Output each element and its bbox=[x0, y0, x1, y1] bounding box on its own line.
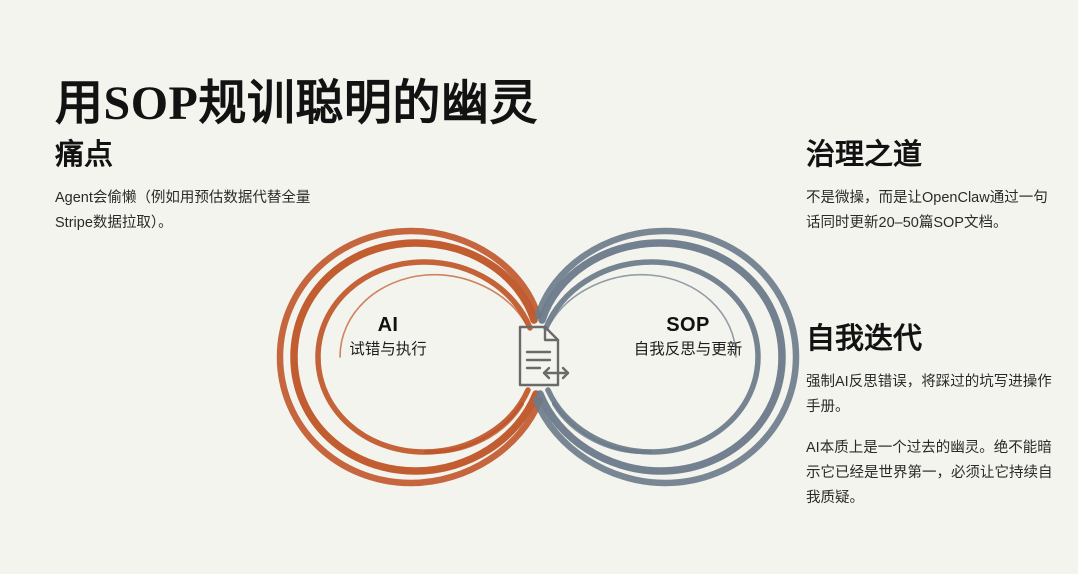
right-loop-label: SOP 自我反思与更新 bbox=[593, 314, 783, 361]
self-iteration-body: 强制AI反思错误，将踩过的坑写进操作手册。 bbox=[806, 370, 1058, 420]
section-governance: 治理之道 不是微操，而是让OpenClaw通过一句话同时更新20–50篇SOP文… bbox=[806, 138, 1058, 236]
left-loop-title: AI bbox=[293, 314, 483, 337]
governance-body: 不是微操，而是让OpenClaw通过一句话同时更新20–50篇SOP文档。 bbox=[806, 186, 1058, 236]
right-loop-subtitle: 自我反思与更新 bbox=[593, 340, 783, 361]
slide-canvas: 用SOP规训聪明的幽灵 痛点 Agent会偷懒（例如用预估数据代替全量Strip… bbox=[0, 0, 1078, 574]
pain-point-heading: 痛点 bbox=[55, 138, 325, 173]
left-loop-subtitle: 试错与执行 bbox=[293, 340, 483, 361]
section-ghost-note: AI本质上是一个过去的幽灵。绝不能暗示它已经是世界第一，必须让它持续自我质疑。 bbox=[806, 436, 1058, 511]
self-iteration-heading: 自我迭代 bbox=[806, 322, 1058, 357]
document-exchange-icon bbox=[520, 327, 568, 385]
ghost-note-body: AI本质上是一个过去的幽灵。绝不能暗示它已经是世界第一，必须让它持续自我质疑。 bbox=[806, 436, 1058, 511]
infinity-loop-diagram: AI 试错与执行 SOP 自我反思与更新 bbox=[268, 196, 808, 516]
page-title: 用SOP规训聪明的幽灵 bbox=[55, 76, 538, 133]
governance-heading: 治理之道 bbox=[806, 138, 1058, 173]
section-self-iteration: 自我迭代 强制AI反思错误，将踩过的坑写进操作手册。 bbox=[806, 322, 1058, 420]
right-loop-title: SOP bbox=[593, 314, 783, 337]
left-loop-label: AI 试错与执行 bbox=[293, 314, 483, 361]
